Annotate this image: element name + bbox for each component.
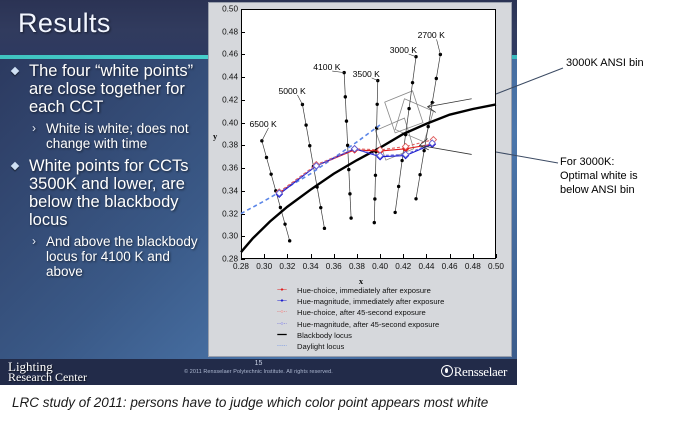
y-tick-label: 0.40 — [222, 118, 238, 127]
isotemperature-sample-dot — [304, 123, 307, 126]
x-tick-label: 0.44 — [418, 262, 434, 271]
x-tick-label: 0.46 — [442, 262, 458, 271]
isotemperature-sample-dot — [374, 174, 377, 177]
chevron-right-icon: › — [32, 121, 36, 136]
cct-leader-line — [262, 128, 269, 141]
x-tick-label: 0.28 — [233, 262, 249, 271]
legend-item: Blackbody locus — [267, 331, 507, 342]
blackbody-locus — [241, 104, 496, 252]
copyright-text: © 2011 Rensselaer Polytechnic Institute.… — [0, 369, 517, 375]
legend-label: Hue-magnitude, immediately after exposur… — [297, 297, 444, 306]
isotemperature-sample-dot — [411, 81, 414, 84]
chevron-right-icon: › — [32, 234, 36, 249]
isotemperature-sample-dot — [422, 149, 425, 152]
diamond-bullet-icon — [11, 162, 19, 170]
y-tick-mark — [241, 259, 245, 260]
optimal-white-arrow — [420, 145, 472, 154]
isotemperature-sample-dot — [349, 216, 352, 219]
isotemperature-sample-dot — [279, 206, 282, 209]
isotemperature-sample-dot — [323, 227, 326, 230]
isotemperature-sample-dot — [283, 222, 286, 225]
presentation-slide: Results The four “white points” are clos… — [0, 0, 517, 385]
x-tick-label: 0.38 — [349, 262, 365, 271]
x-tick-label: 0.34 — [303, 262, 319, 271]
cct-label: 3500 K — [353, 69, 380, 79]
annotation-optimal-white: For 3000K: Optimal white is below ANSI b… — [560, 155, 638, 197]
isotemperature-sample-dot — [345, 119, 348, 122]
chart-graphics — [241, 9, 496, 259]
isotemperature-sample-dot — [319, 206, 322, 209]
cct-leader-line — [297, 95, 302, 105]
y-tick-label: 0.34 — [222, 186, 238, 195]
isotemperature-sample-dot — [301, 103, 304, 106]
chart-legend: Hue-choice, immediately after exposureHu… — [267, 286, 507, 353]
cct-leader-line — [437, 39, 441, 54]
isotemperature-sample-dot — [375, 103, 378, 106]
isotemperature-sample-dot — [265, 156, 268, 159]
y-tick-label: 0.38 — [222, 141, 238, 150]
annotation-line-2: Optimal white is — [560, 169, 638, 183]
legend-label: Hue-choice, after 45-second exposure — [297, 308, 426, 317]
chart-panel: y x 0.280.300.320.340.360.380.400.420.44… — [208, 2, 512, 357]
page-number: 15 — [0, 360, 517, 367]
isotemperature-sample-dot — [393, 211, 396, 214]
isotemperature-sample-dot — [400, 159, 403, 162]
legend-label: Hue-magnitude, after 45-second exposure — [297, 320, 439, 329]
legend-symbol — [271, 288, 293, 291]
daylight-locus — [241, 125, 380, 214]
isotemperature-sample-dot — [348, 192, 351, 195]
bullet-list: The four “white points” are close togeth… — [8, 62, 198, 285]
isotemperature-sample-dot — [344, 95, 347, 98]
diamond-bullet-icon — [11, 67, 19, 75]
x-tick-mark — [496, 254, 497, 258]
cct-label: 2700 K — [418, 30, 445, 40]
legend-label: Blackbody locus — [297, 331, 352, 340]
x-tick-label: 0.42 — [395, 262, 411, 271]
bullet-text: The four “white points” are close togeth… — [29, 62, 193, 116]
sub-bullet-text: White is white; does not change with tim… — [46, 121, 189, 151]
rensselaer-brand: Rensselaer — [441, 364, 507, 380]
annotation-line-1: For 3000K: — [560, 155, 638, 169]
isotemperature-sample-dot — [288, 239, 291, 242]
legend-symbol — [271, 322, 293, 325]
isotemperature-sample-dot — [269, 172, 272, 175]
sub-bullet-text: And above the blackbody locus for 4100 K… — [46, 234, 198, 279]
legend-symbol — [271, 333, 293, 336]
x-tick-label: 0.32 — [279, 262, 295, 271]
legend-label: Hue-choice, immediately after exposure — [297, 286, 431, 295]
sub-bullet-item: › And above the blackbody locus for 4100… — [8, 234, 198, 279]
bullet-text: White points for CCTs 3500K and lower, a… — [29, 157, 189, 229]
isotemperature-sample-dot — [347, 168, 350, 171]
annotation-ansi-bin: 3000K ANSI bin — [566, 56, 644, 70]
bullet-item: White points for CCTs 3500K and lower, a… — [8, 157, 198, 229]
y-tick-label: 0.30 — [222, 232, 238, 241]
page-title: Results — [18, 8, 111, 39]
x-axis-label: x — [209, 276, 513, 286]
sub-bullet-item: › White is white; does not change with t… — [8, 121, 198, 151]
isotemperature-sample-dot — [373, 221, 376, 224]
cct-label: 6500 K — [250, 119, 277, 129]
y-tick-label: 0.44 — [222, 73, 238, 82]
isotemperature-sample-dot — [418, 173, 421, 176]
legend-item: Hue-magnitude, after 45-second exposure — [267, 320, 507, 331]
x-tick-label: 0.48 — [465, 262, 481, 271]
y-tick-label: 0.36 — [222, 164, 238, 173]
legend-label: Daylight locus — [297, 342, 344, 351]
bullet-item: The four “white points” are close togeth… — [8, 62, 198, 116]
rensselaer-brand-text: Rensselaer — [454, 364, 507, 379]
legend-symbol — [271, 310, 293, 313]
legend-symbol — [271, 344, 293, 347]
legend-item: Hue-choice, after 45-second exposure — [267, 308, 507, 319]
y-tick-label: 0.48 — [222, 27, 238, 36]
x-tick-label: 0.30 — [256, 262, 272, 271]
figure-caption: LRC study of 2011: persons have to judge… — [12, 395, 488, 410]
legend-item: Hue-choice, immediately after exposure — [267, 286, 507, 297]
isotemperature-sample-dot — [426, 125, 429, 128]
x-tick-label: 0.40 — [372, 262, 388, 271]
y-tick-label: 0.50 — [222, 5, 238, 14]
isotemperature-sample-dot — [397, 185, 400, 188]
annotation-line-3: below ANSI bin — [560, 183, 638, 197]
y-tick-label: 0.42 — [222, 95, 238, 104]
isotemperature-sample-dot — [414, 197, 417, 200]
legend-item: Hue-magnitude, immediately after exposur… — [267, 297, 507, 308]
plot-area-wrapper: 0.280.300.320.340.360.380.400.420.440.46… — [241, 9, 496, 259]
x-tick-label: 0.36 — [326, 262, 342, 271]
rensselaer-seal-icon — [441, 365, 453, 377]
y-tick-label: 0.32 — [222, 209, 238, 218]
y-axis-label: y — [213, 131, 217, 141]
legend-item: Daylight locus — [267, 342, 507, 353]
legend-symbol — [271, 299, 293, 302]
cct-label: 5000 K — [278, 86, 305, 96]
isotemperature-sample-dot — [435, 77, 438, 80]
x-tick-label: 0.50 — [488, 262, 504, 271]
cct-label: 4100 K — [313, 62, 340, 72]
isotemperature-sample-dot — [407, 107, 410, 110]
isotemperature-sample-dot — [308, 144, 311, 147]
cct-label: 3000 K — [390, 45, 417, 55]
y-tick-label: 0.46 — [222, 50, 238, 59]
isotemperature-sample-dot — [373, 197, 376, 200]
